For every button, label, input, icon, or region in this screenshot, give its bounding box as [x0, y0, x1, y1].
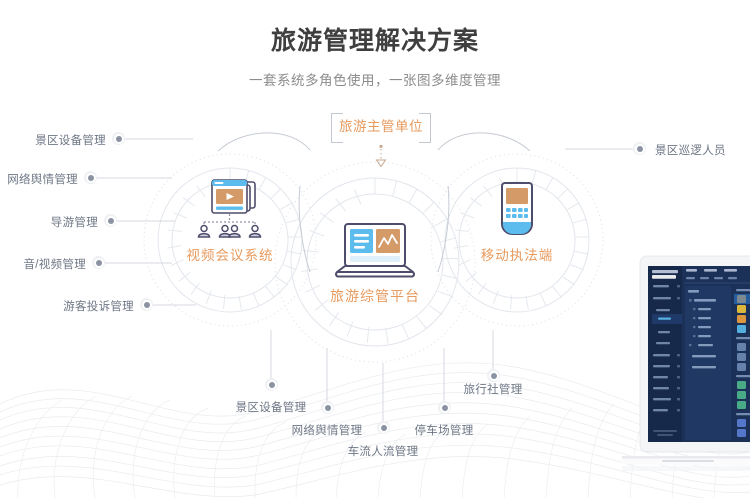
spoke-bottom-3-dot[interactable]: [377, 421, 390, 434]
spoke-bottom-3[interactable]: 车流人流管理: [340, 443, 426, 459]
spoke-left-2-label: 网络舆情管理: [7, 174, 78, 186]
node-video-conference-label: 视频会议系统: [165, 244, 295, 264]
spoke-right-1-dot[interactable]: [633, 142, 646, 155]
spoke-bottom-3-label: 车流人流管理: [348, 446, 419, 458]
spoke-bottom-5-label: 旅行社管理: [464, 384, 523, 396]
mobile-device-icon: [493, 180, 541, 240]
spoke-bottom-2-label: 网络舆情管理: [292, 425, 363, 437]
spoke-bottom-4-dot[interactable]: [438, 401, 451, 414]
video-conference-icon: [191, 178, 269, 240]
spoke-bottom-1-label: 景区设备管理: [236, 402, 307, 414]
spoke-left-4-dot[interactable]: [92, 256, 105, 269]
spoke-left-2[interactable]: 网络舆情管理: [0, 171, 78, 187]
spoke-bottom-2-dot[interactable]: [321, 401, 334, 414]
spoke-left-2-dot[interactable]: [84, 171, 97, 184]
authority-box[interactable]: 旅游主管单位: [331, 113, 431, 141]
node-tourism-platform-label: 旅游综管平台: [310, 286, 440, 306]
spoke-left-5-label: 游客投诉管理: [63, 301, 134, 313]
authority-label: 旅游主管单位: [331, 113, 431, 141]
spoke-left-3-dot[interactable]: [104, 214, 117, 227]
spoke-left-5[interactable]: 游客投诉管理: [0, 298, 134, 314]
spoke-left-1-label: 景区设备管理: [35, 135, 106, 147]
spoke-left-3-label: 导游管理: [51, 217, 98, 229]
spoke-left-1[interactable]: 景区设备管理: [0, 132, 106, 148]
node-tourism-platform[interactable]: 旅游综管平台: [310, 222, 440, 306]
laptop-dashboard-preview: [622, 252, 750, 498]
page-subtitle: 一套系统多角色使用，一张图多维度管理: [0, 69, 750, 89]
spoke-left-1-dot[interactable]: [112, 132, 125, 145]
authority-down-arrow: [377, 145, 386, 167]
node-mobile-enforcement-label: 移动执法端: [452, 244, 582, 264]
node-mobile-enforcement[interactable]: 移动执法端: [452, 180, 582, 264]
solution-diagram-canvas: 旅游管理解决方案 一套系统多角色使用，一张图多维度管理 旅游主管单位: [0, 0, 750, 498]
laptop-dashboard-icon: [331, 222, 419, 282]
spoke-bottom-5[interactable]: 旅行社管理: [450, 381, 536, 397]
spoke-right-1[interactable]: 景区巡逻人员: [655, 142, 750, 158]
page-header: 旅游管理解决方案 一套系统多角色使用，一张图多维度管理: [0, 0, 750, 89]
page-title: 旅游管理解决方案: [0, 26, 750, 56]
spoke-left-5-dot[interactable]: [140, 298, 153, 311]
spoke-left-4-label: 音/视频管理: [24, 259, 87, 271]
spoke-bottom-1-dot[interactable]: [265, 378, 278, 391]
node-video-conference[interactable]: 视频会议系统: [165, 178, 295, 264]
spoke-bottom-1[interactable]: 景区设备管理: [228, 399, 314, 415]
spoke-bottom-4-label: 停车场管理: [415, 425, 474, 437]
spoke-left-4[interactable]: 音/视频管理: [0, 256, 86, 272]
spoke-bottom-4[interactable]: 停车场管理: [401, 422, 487, 438]
spoke-right-1-label: 景区巡逻人员: [655, 145, 726, 157]
spoke-bottom-2[interactable]: 网络舆情管理: [284, 422, 370, 438]
spoke-left-3[interactable]: 导游管理: [0, 214, 98, 230]
